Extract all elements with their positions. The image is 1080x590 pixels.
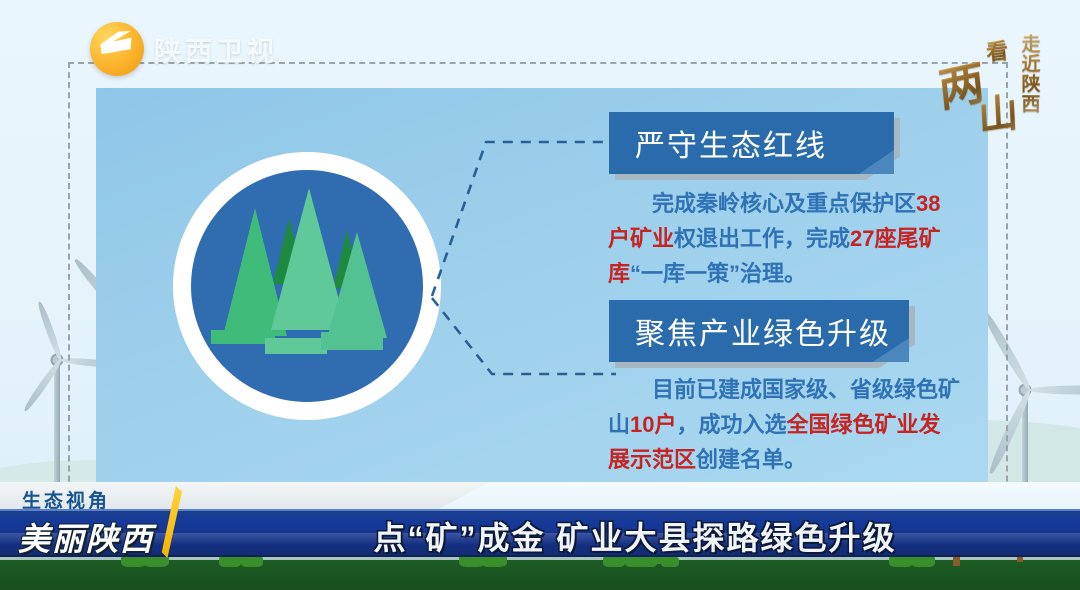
watermark-second-char: 山 (977, 79, 1020, 143)
paragraph-run: 完成秦岭核心及重点保护区 (652, 191, 916, 216)
callout-banner-ecological-redline: 严守生态红线 (609, 112, 894, 174)
paragraph-run-highlight: 10户 (630, 412, 676, 437)
swoosh-icon (99, 30, 133, 54)
channel-logo: 陕西卫视 (90, 22, 278, 76)
ground-band (0, 560, 1080, 590)
broadcast-screen: 严守生态红线 完成秦岭核心及重点保护区38户矿业权退出工作，完成27座尾矿库“一… (0, 0, 1080, 590)
sun-swoosh-logo-icon (90, 22, 144, 76)
paragraph-run: 创建名单。 (696, 447, 806, 472)
paragraph-run: “一库一策”治理。 (630, 261, 806, 286)
callout-banner-green-upgrade: 聚焦产业绿色升级 (609, 300, 909, 362)
gold-calligraphy-watermark: 看 两 山 走近陕西 (934, 24, 1054, 134)
connector-line-bottom (430, 280, 630, 390)
paragraph-green-upgrade: 目前已建成国家级、省级绿色矿山10户，成功入选全国绿色矿业发展示范区创建名单。 (608, 372, 960, 477)
lower-third-headline: 点“矿”成金 矿业大县探路绿色升级 (0, 513, 1080, 559)
pine-forest-circle-icon (173, 152, 441, 420)
paragraph-run: 权退出工作，完成 (674, 226, 850, 251)
paragraph-ecological-redline: 完成秦岭核心及重点保护区38户矿业权退出工作，完成27座尾矿库“一库一策”治理。 (608, 186, 960, 291)
callout-banner-label: 聚焦产业绿色升级 (635, 309, 891, 353)
callout-banner-label: 严守生态红线 (635, 121, 827, 165)
watermark-small-char: 看 (984, 33, 1009, 67)
channel-name: 陕西卫视 (154, 30, 278, 69)
watermark-column-text: 走近陕西 (1020, 34, 1042, 114)
paragraph-run: ，成功入选 (677, 412, 787, 437)
